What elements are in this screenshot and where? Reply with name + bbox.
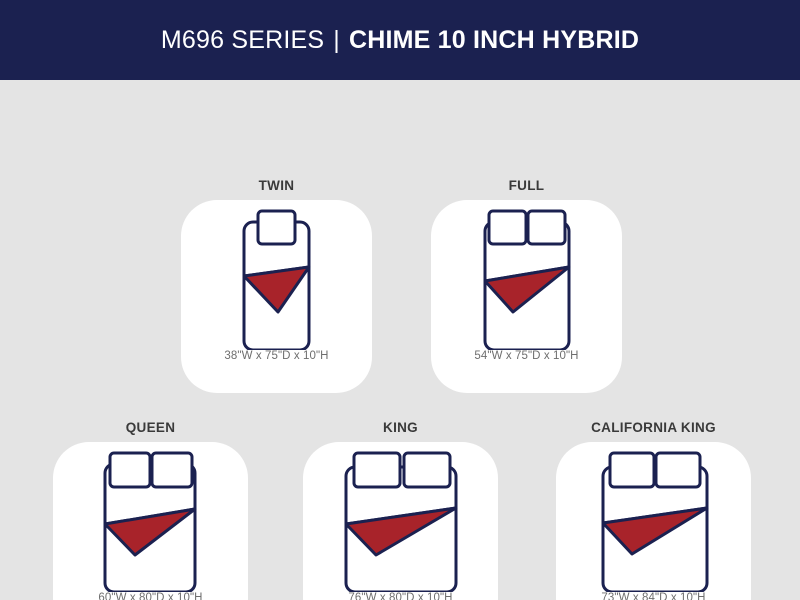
size-card-dimensions-california-king: 73"W x 84"D x 10"H — [601, 592, 705, 600]
header-banner: M696 SERIES | CHIME 10 INCH HYBRID — [0, 0, 800, 80]
title-divider: | — [333, 26, 340, 55]
size-card-title-twin: TWIN — [259, 178, 295, 193]
size-card-panel-queen: 60"W x 80"D x 10"H — [53, 442, 248, 600]
bed-icon-twin — [181, 200, 372, 350]
size-card-title-california-king: CALIFORNIA KING — [591, 420, 716, 435]
size-chart-grid: TWIN 38"W x 75"D x 10"H FULL — [0, 80, 800, 600]
model-label: CHIME 10 INCH HYBRID — [349, 26, 639, 55]
size-card-title-full: FULL — [509, 178, 545, 193]
bed-icon-full — [431, 200, 622, 350]
page-title: M696 SERIES | CHIME 10 INCH HYBRID — [161, 26, 639, 55]
size-card-dimensions-queen: 60"W x 80"D x 10"H — [98, 592, 202, 600]
size-card-queen[interactable]: QUEEN 60"W x 80"D x 10"H — [53, 420, 248, 600]
size-card-title-king: KING — [383, 420, 418, 435]
size-card-panel-full: 54"W x 75"D x 10"H — [431, 200, 622, 393]
bed-icon-queen — [53, 442, 248, 592]
size-card-full[interactable]: FULL 54"W x 75"D x 10"H — [431, 178, 622, 393]
size-card-title-queen: QUEEN — [126, 420, 176, 435]
size-card-california-king[interactable]: CALIFORNIA KING 73"W x 84"D x 10"H — [556, 420, 751, 600]
size-card-panel-twin: 38"W x 75"D x 10"H — [181, 200, 372, 393]
bed-icon-california-king — [556, 442, 751, 592]
size-card-twin[interactable]: TWIN 38"W x 75"D x 10"H — [181, 178, 372, 393]
size-card-dimensions-king: 76"W x 80"D x 10"H — [348, 592, 452, 600]
size-card-panel-california-king: 73"W x 84"D x 10"H — [556, 442, 751, 600]
size-card-king[interactable]: KING 76"W x 80"D x 10"H — [303, 420, 498, 600]
size-card-panel-king: 76"W x 80"D x 10"H — [303, 442, 498, 600]
bed-icon-king — [303, 442, 498, 592]
size-card-dimensions-full: 54"W x 75"D x 10"H — [474, 350, 578, 362]
series-label: M696 SERIES — [161, 26, 324, 55]
size-card-dimensions-twin: 38"W x 75"D x 10"H — [224, 350, 328, 362]
